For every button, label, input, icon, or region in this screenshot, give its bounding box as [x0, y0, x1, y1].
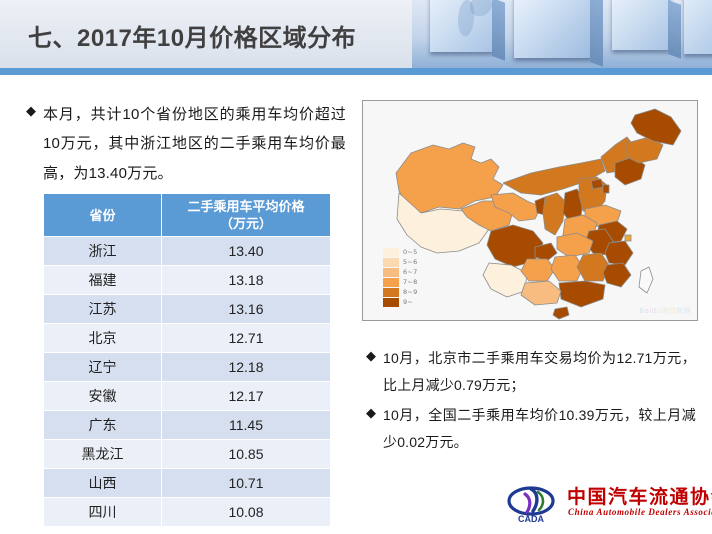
table-row: 福建13.18 [44, 266, 331, 295]
cada-logo: CADA 中国汽车流通协会 China Automobile Dealers A… [505, 482, 705, 528]
table-row: 安徽12.17 [44, 382, 331, 411]
right-notes-list: ◆10月，北京市二手乘用车交易均价为12.71万元，比上月减少0.79万元；◆1… [366, 345, 696, 458]
legend-item: 6~7 [383, 267, 418, 277]
table-row: 辽宁12.18 [44, 353, 331, 382]
map-watermark: Baidu地图数据 [639, 306, 691, 316]
table-row: 黑龙江10.85 [44, 440, 331, 469]
table-body: 浙江13.40福建13.18江苏13.16北京12.71辽宁12.18安徽12.… [44, 237, 331, 527]
cell-price: 10.08 [162, 498, 331, 527]
table-row: 浙江13.40 [44, 237, 331, 266]
header-accent-bar [0, 68, 712, 75]
legend-swatch [383, 298, 399, 307]
legend-swatch [383, 248, 399, 257]
slide-header: 七、2017年10月价格区域分布 [0, 0, 712, 68]
right-note-text: 10月，全国二手乘用车均价10.39万元，较上月减少0.02万元。 [383, 402, 696, 457]
province-price-table: 省份 二手乘用车平均价格 （万元） 浙江13.40福建13.18江苏13.16北… [43, 193, 331, 527]
left-summary-text: 本月，共计10个省份地区的乘用车均价超过10万元，其中浙江地区的二手乘用车均价最… [43, 100, 346, 188]
legend-label: 7~8 [403, 278, 418, 286]
decorative-cube-icon [684, 0, 712, 54]
cell-price: 10.71 [162, 469, 331, 498]
decorative-cube-icon [514, 0, 592, 58]
legend-swatch [383, 258, 399, 267]
cell-price: 10.85 [162, 440, 331, 469]
cell-price: 12.17 [162, 382, 331, 411]
table-row: 江苏13.16 [44, 295, 331, 324]
legend-item: 8~9 [383, 287, 418, 297]
legend-label: 5~6 [403, 258, 418, 266]
legend-label: 0~5 [403, 248, 418, 256]
table-header-price-line2: （万元） [220, 216, 272, 231]
page-title: 七、2017年10月价格区域分布 [28, 18, 356, 53]
right-note-item: ◆10月，北京市二手乘用车交易均价为12.71万元，比上月减少0.79万元； [366, 345, 696, 400]
cell-province: 广东 [44, 411, 162, 440]
table-header-row: 省份 二手乘用车平均价格 （万元） [44, 194, 331, 237]
cell-province: 辽宁 [44, 353, 162, 382]
table-header-price: 二手乘用车平均价格 （万元） [162, 194, 331, 237]
left-summary-bullet: ◆ 本月，共计10个省份地区的乘用车均价超过10万元，其中浙江地区的二手乘用车均… [26, 100, 346, 188]
legend-item: 7~8 [383, 277, 418, 287]
decorative-cube-icon [612, 0, 670, 50]
cell-province: 江苏 [44, 295, 162, 324]
legend-item: 0~5 [383, 247, 418, 257]
table-header-price-line1: 二手乘用车平均价格 [187, 199, 304, 214]
cell-province: 浙江 [44, 237, 162, 266]
right-note-text: 10月，北京市二手乘用车交易均价为12.71万元，比上月减少0.79万元； [383, 345, 696, 400]
cell-price: 13.40 [162, 237, 331, 266]
legend-swatch [383, 278, 399, 287]
cell-price: 13.18 [162, 266, 331, 295]
cell-province: 安徽 [44, 382, 162, 411]
cada-abbr-text: CADA [518, 514, 544, 524]
header-decoration [412, 0, 712, 68]
cada-logo-mark-icon: CADA [505, 484, 561, 524]
cell-price: 13.16 [162, 295, 331, 324]
diamond-bullet-icon: ◆ [366, 403, 376, 423]
table-row: 山西10.71 [44, 469, 331, 498]
legend-item: 9~ [383, 297, 418, 307]
legend-swatch [383, 268, 399, 277]
cell-price: 12.18 [162, 353, 331, 382]
cell-province: 黑龙江 [44, 440, 162, 469]
china-price-map: 0~55~66~77~88~99~ Baidu地图数据 [362, 100, 698, 321]
map-legend: 0~55~66~77~88~99~ [383, 247, 418, 307]
cell-province: 四川 [44, 498, 162, 527]
legend-label: 8~9 [403, 288, 418, 296]
decorative-cube-icon [430, 0, 494, 52]
cell-price: 11.45 [162, 411, 331, 440]
table-row: 广东11.45 [44, 411, 331, 440]
cell-province: 北京 [44, 324, 162, 353]
diamond-bullet-icon: ◆ [26, 101, 36, 121]
table-row: 北京12.71 [44, 324, 331, 353]
cell-province: 山西 [44, 469, 162, 498]
cell-price: 12.71 [162, 324, 331, 353]
right-note-item: ◆10月，全国二手乘用车均价10.39万元，较上月减少0.02万元。 [366, 402, 696, 457]
diamond-bullet-icon: ◆ [366, 346, 376, 366]
legend-label: 6~7 [403, 268, 418, 276]
logo-chinese-name: 中国汽车流通协会 [567, 482, 712, 509]
logo-english-name: China Automobile Dealers Association [568, 507, 712, 517]
legend-item: 5~6 [383, 257, 418, 267]
table-row: 四川10.08 [44, 498, 331, 527]
table-header-province: 省份 [44, 194, 162, 237]
cell-province: 福建 [44, 266, 162, 295]
legend-swatch [383, 288, 399, 297]
legend-label: 9~ [403, 298, 413, 306]
